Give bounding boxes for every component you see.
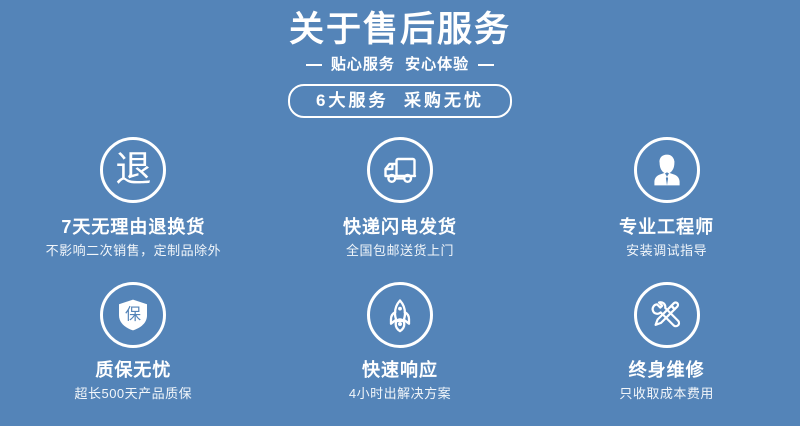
service-subtitle: 不影响二次销售，定制品除外 — [46, 242, 222, 259]
service-item-warranty[interactable]: 保 质保无忧 超长500天产品质保 — [0, 282, 267, 422]
service-subtitle: 全国包邮送货上门 — [346, 242, 454, 259]
subtitle-row: 贴心服务 安心体验 — [0, 55, 800, 75]
service-subtitle: 只收取成本费用 — [619, 385, 714, 402]
rocket-icon — [367, 282, 433, 348]
return-character-icon: 退 — [100, 137, 166, 203]
service-subtitle: 安装调试指导 — [626, 242, 707, 259]
service-title: 7天无理由退换货 — [61, 216, 205, 238]
service-item-shipping[interactable]: 快递闪电发货 全国包邮送货上门 — [267, 137, 534, 282]
engineer-person-icon — [634, 137, 700, 203]
service-item-response[interactable]: 快速响应 4小时出解决方案 — [267, 282, 534, 422]
wrench-screwdriver-icon — [634, 282, 700, 348]
page-subtitle: 贴心服务 安心体验 — [331, 55, 469, 75]
services-grid: 退 7天无理由退换货 不影响二次销售，定制品除外 快递闪电发货 全国包邮送货上门 — [0, 137, 800, 422]
service-subtitle: 4小时出解决方案 — [349, 385, 451, 402]
svg-text:保: 保 — [125, 305, 141, 324]
after-sales-service-banner: 关于售后服务 贴心服务 安心体验 6大服务 采购无忧 退 7天无理由退换货 不影… — [0, 0, 800, 426]
service-title: 快递闪电发货 — [343, 216, 457, 238]
service-item-return[interactable]: 退 7天无理由退换货 不影响二次销售，定制品除外 — [0, 137, 267, 282]
page-title: 关于售后服务 — [0, 0, 800, 51]
dash-right-icon — [478, 64, 494, 66]
service-item-repair[interactable]: 终身维修 只收取成本费用 — [533, 282, 800, 422]
service-count-badge: 6大服务 采购无忧 — [288, 84, 512, 118]
warranty-shield-icon: 保 — [100, 282, 166, 348]
service-subtitle: 超长500天产品质保 — [74, 385, 192, 402]
service-title: 质保无忧 — [95, 359, 171, 381]
service-title: 专业工程师 — [619, 216, 714, 238]
service-title: 快速响应 — [362, 359, 438, 381]
service-title: 终身维修 — [629, 359, 705, 381]
badge-wrapper: 6大服务 采购无忧 — [0, 84, 800, 118]
banner-header: 关于售后服务 贴心服务 安心体验 6大服务 采购无忧 — [0, 0, 800, 118]
delivery-truck-icon — [367, 137, 433, 203]
service-item-engineer[interactable]: 专业工程师 安装调试指导 — [533, 137, 800, 282]
dash-left-icon — [306, 64, 322, 66]
